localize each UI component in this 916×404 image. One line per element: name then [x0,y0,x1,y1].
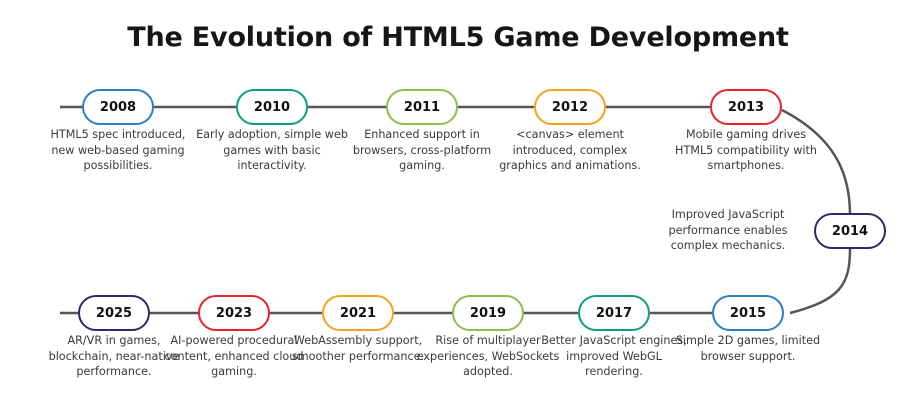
timeline-node-2017[interactable]: 2017 [578,295,650,331]
timeline-description-2013: Mobile gaming drives HTML5 compatibility… [670,127,822,174]
timeline-node-2011[interactable]: 2011 [386,89,458,125]
timeline-node-2021[interactable]: 2021 [322,295,394,331]
page-title: The Evolution of HTML5 Game Development [0,22,916,53]
timeline-node-2014[interactable]: 2014 [814,213,886,249]
timeline-node-2025[interactable]: 2025 [78,295,150,331]
timeline-description-2012: <canvas> element introduced, complex gra… [490,127,650,174]
timeline-description-2011: Enhanced support in browsers, cross-plat… [346,127,498,174]
timeline-node-2010[interactable]: 2010 [236,89,308,125]
timeline-infographic: The Evolution of HTML5 Game Development … [0,0,916,404]
timeline-description-2014: Improved JavaScript performance enables … [648,207,808,254]
timeline-node-2008[interactable]: 2008 [82,89,154,125]
timeline-description-2017: Better JavaScript engines, improved WebG… [538,333,690,380]
timeline-description-2008: HTML5 spec introduced, new web-based gam… [42,127,194,174]
timeline-description-2015: Simple 2D games, limited browser support… [672,333,824,364]
timeline-node-2013[interactable]: 2013 [710,89,782,125]
timeline-description-2010: Early adoption, simple web games with ba… [196,127,348,174]
timeline-node-2015[interactable]: 2015 [712,295,784,331]
timeline-node-2019[interactable]: 2019 [452,295,524,331]
connector-curve-right-lower [790,249,850,313]
timeline-node-2023[interactable]: 2023 [198,295,270,331]
timeline-node-2012[interactable]: 2012 [534,89,606,125]
